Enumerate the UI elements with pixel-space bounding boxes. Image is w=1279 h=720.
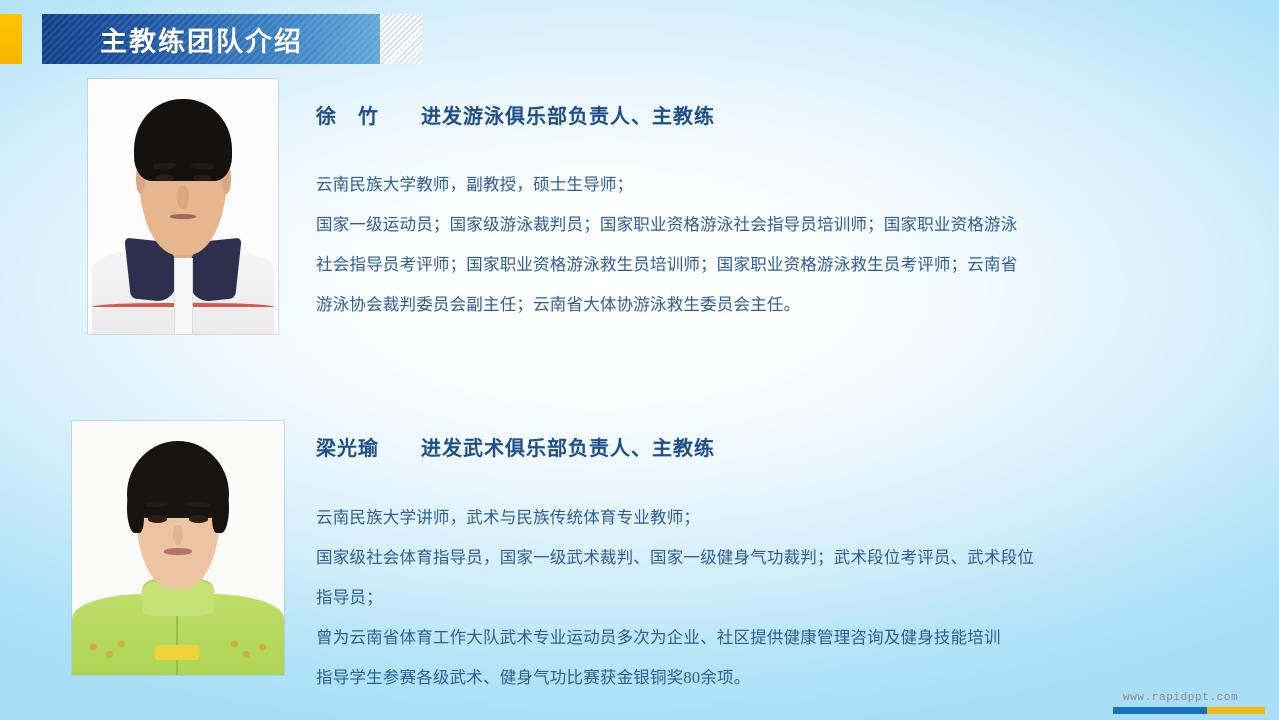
coach-bio-1: 云南民族大学教师，副教授，硕士生导师； 国家一级运动员；国家级游泳裁判员；国家职…	[316, 165, 1236, 325]
bio-line: 指导学生参赛各级武术、健身气功比赛获金银铜奖80余项。	[316, 658, 1236, 698]
title-spacer	[22, 14, 42, 64]
slide-title-banner: 主教练团队介绍	[0, 14, 422, 64]
page-title: 主教练团队介绍	[100, 20, 303, 59]
portrait-image-2	[72, 421, 284, 675]
coach-name-heading-2: 梁光瑜 进发武术俱乐部负责人、主教练	[316, 432, 715, 461]
coach-name-heading-1: 徐 竹 进发游泳俱乐部负责人、主教练	[316, 100, 715, 129]
portrait-eye-right-1	[193, 175, 212, 182]
title-gold-accent-bar	[0, 14, 22, 64]
bio-line: 云南民族大学讲师，武术与民族传统体育专业教师；	[316, 498, 1236, 538]
portrait-hair-side-left-2	[127, 477, 144, 533]
coach-bio-2: 云南民族大学讲师，武术与民族传统体育专业教师； 国家级社会体育指导员，国家一级武…	[316, 498, 1236, 698]
watermark: www.rapidppt.com	[1113, 692, 1265, 714]
watermark-url: www.rapidppt.com	[1113, 692, 1265, 704]
watermark-bar-gold	[1207, 707, 1265, 714]
bio-line: 云南民族大学教师，副教授，硕士生导师；	[316, 165, 1236, 205]
portrait-image-1	[88, 79, 278, 334]
coach-photo-2	[72, 421, 284, 675]
title-hatch-decoration	[380, 14, 422, 64]
bio-line: 国家级社会体育指导员，国家一级武术裁判、国家一级健身气功裁判；武术段位考评员、武…	[316, 538, 1236, 578]
portrait-eye-right-2	[189, 515, 208, 523]
portrait-hair-side-right-2	[212, 477, 229, 533]
portrait-placket-1	[174, 258, 193, 335]
title-blue-band: 主教练团队介绍	[42, 14, 380, 64]
portrait-frog-knot-2	[155, 645, 200, 660]
watermark-bars	[1113, 707, 1265, 714]
bio-line: 社会指导员考评师；国家职业资格游泳救生员培训师；国家职业资格游泳救生员考评师；云…	[316, 245, 1236, 285]
watermark-bar-blue	[1113, 707, 1207, 714]
portrait-nose-1	[177, 186, 188, 209]
portrait-eye-left-2	[148, 515, 167, 523]
slide-canvas: 主教练团队介绍 徐 竹 进发游泳俱乐部负责人、主教练 云南民族大学教	[0, 0, 1279, 720]
portrait-eye-left-1	[155, 175, 174, 182]
portrait-embroidery-right-2	[227, 634, 278, 667]
bio-line: 指导员；	[316, 578, 1236, 618]
portrait-mouth-2	[164, 548, 192, 555]
bio-line: 曾为云南省体育工作大队武术专业运动员多次为企业、社区提供健康管理咨询及健身技能培…	[316, 618, 1236, 658]
portrait-embroidery-left-2	[78, 634, 129, 667]
bio-line: 国家一级运动员；国家级游泳裁判员；国家职业资格游泳社会指导员培训师；国家职业资格…	[316, 205, 1236, 245]
bio-line: 游泳协会裁判委员会副主任；云南省大体协游泳救生委员会主任。	[316, 285, 1236, 325]
coach-photo-1	[88, 79, 278, 334]
